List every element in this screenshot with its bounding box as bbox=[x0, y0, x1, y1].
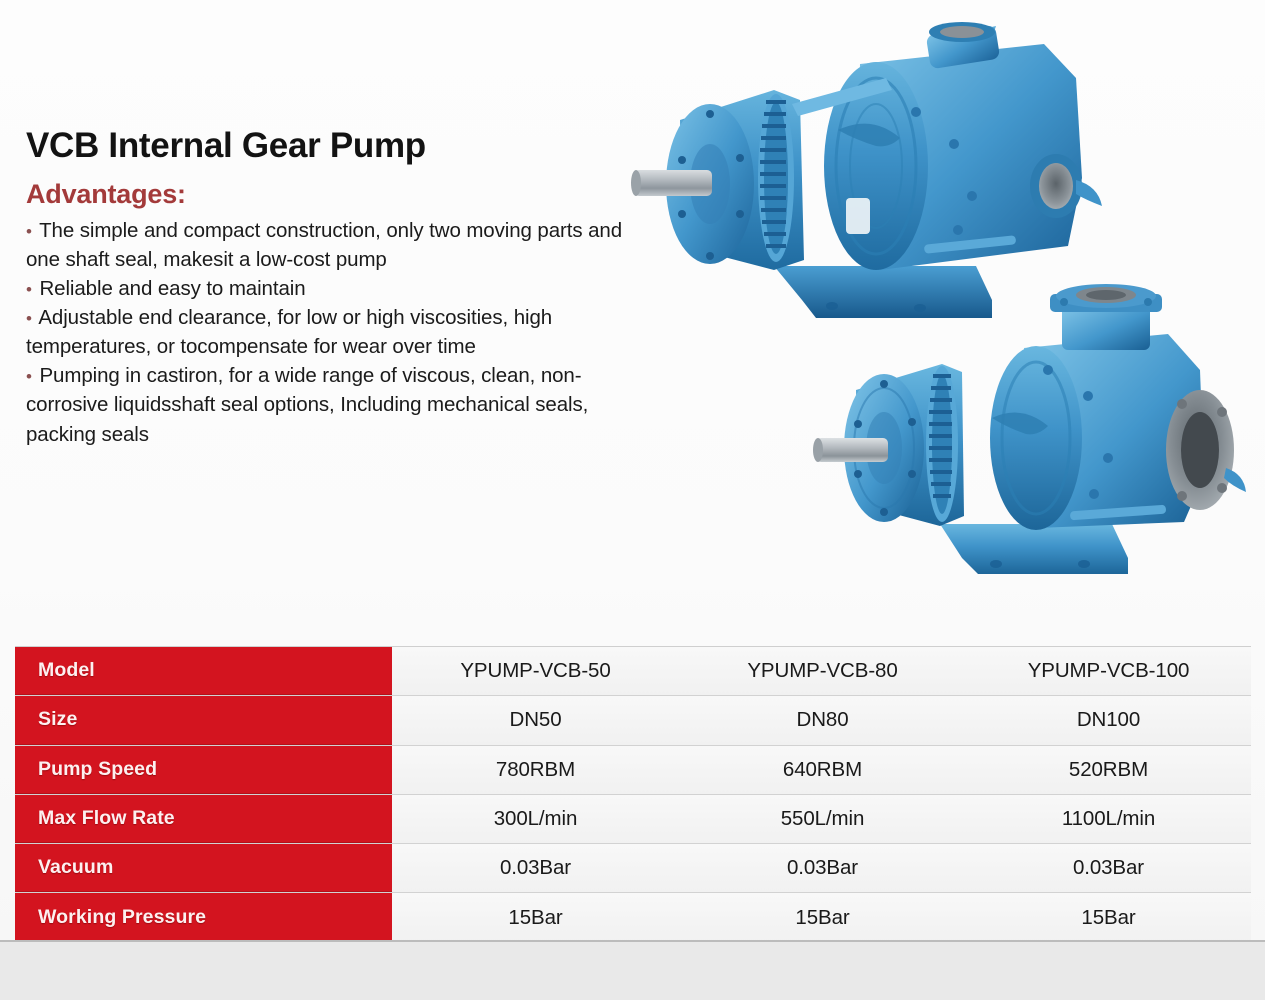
row-label-working-pressure: Working Pressure bbox=[15, 893, 392, 941]
cell-max-flow-rate-col3: 1100L/min bbox=[966, 795, 1251, 843]
pump-baseplate bbox=[940, 524, 1128, 574]
cell-model-col2: YPUMP-VCB-80 bbox=[679, 647, 966, 695]
bullet-icon: • bbox=[26, 309, 34, 328]
cell-model-col1: YPUMP-VCB-50 bbox=[392, 647, 679, 695]
advantage-item-3: • Adjustable end clearance, for low or h… bbox=[26, 303, 646, 361]
pump-drive-shaft bbox=[816, 438, 888, 462]
row-label-max-flow-rate: Max Flow Rate bbox=[15, 795, 392, 843]
cell-working-pressure-col1: 15Bar bbox=[392, 893, 679, 941]
cell-pump-speed-col2: 640RBM bbox=[679, 746, 966, 794]
pump-outlet-bore bbox=[1039, 163, 1073, 209]
page-title: VCB Internal Gear Pump bbox=[26, 128, 646, 165]
footer-band bbox=[0, 940, 1265, 1000]
cell-vacuum-col2: 0.03Bar bbox=[679, 844, 966, 892]
cell-working-pressure-col3: 15Bar bbox=[966, 893, 1251, 941]
cell-max-flow-rate-col2: 550L/min bbox=[679, 795, 966, 843]
row-label-model: Model bbox=[15, 647, 392, 695]
bullet-icon: • bbox=[26, 367, 34, 386]
cell-max-flow-rate-col1: 300L/min bbox=[392, 795, 679, 843]
pump-drive-shaft bbox=[634, 170, 712, 196]
table-row: Size DN50 DN80 DN100 bbox=[15, 696, 1251, 745]
advantage-item-4: • Pumping in castiron, for a wide range … bbox=[26, 361, 646, 448]
specification-table: Model YPUMP-VCB-50 YPUMP-VCB-80 YPUMP-VC… bbox=[15, 646, 1251, 938]
row-label-pump-speed: Pump Speed bbox=[15, 746, 392, 794]
advantage-item-1: • The simple and compact construction, o… bbox=[26, 216, 646, 274]
row-label-size: Size bbox=[15, 696, 392, 744]
advantage-text: The simple and compact construction, onl… bbox=[26, 219, 622, 271]
advantage-item-2: • Reliable and easy to maintain bbox=[26, 274, 646, 303]
cell-vacuum-col3: 0.03Bar bbox=[966, 844, 1251, 892]
row-label-vacuum: Vacuum bbox=[15, 844, 392, 892]
cell-working-pressure-col2: 15Bar bbox=[679, 893, 966, 941]
gear-teeth-ring bbox=[758, 94, 794, 262]
table-row: Pump Speed 780RBM 640RBM 520RBM bbox=[15, 746, 1251, 795]
cell-size-col3: DN100 bbox=[966, 696, 1251, 744]
cell-vacuum-col1: 0.03Bar bbox=[392, 844, 679, 892]
product-spec-sheet: VCB Internal Gear Pump Advantages: • The… bbox=[0, 0, 1265, 1000]
table-row: Max Flow Rate 300L/min 550L/min 1100L/mi… bbox=[15, 795, 1251, 844]
pump-casing-end bbox=[990, 346, 1082, 530]
cell-pump-speed-col1: 780RBM bbox=[392, 746, 679, 794]
advantages-heading: Advantages: bbox=[26, 179, 646, 210]
cell-size-col2: DN80 bbox=[679, 696, 966, 744]
cell-size-col1: DN50 bbox=[392, 696, 679, 744]
gear-teeth-ring bbox=[926, 366, 958, 522]
pump-top-nozzle bbox=[1062, 306, 1150, 350]
product-description-block: VCB Internal Gear Pump Advantages: • The… bbox=[26, 128, 646, 449]
internal-gear-pump-flanged-image bbox=[812, 272, 1264, 594]
bullet-icon: • bbox=[26, 280, 34, 299]
pump-discharge-bore bbox=[1181, 412, 1219, 488]
cell-pump-speed-col3: 520RBM bbox=[966, 746, 1251, 794]
cell-model-col3: YPUMP-VCB-100 bbox=[966, 647, 1251, 695]
table-row: Working Pressure 15Bar 15Bar 15Bar bbox=[15, 893, 1251, 941]
bullet-icon: • bbox=[26, 222, 34, 241]
table-row: Model YPUMP-VCB-50 YPUMP-VCB-80 YPUMP-VC… bbox=[15, 647, 1251, 696]
advantage-text: Pumping in castiron, for a wide range of… bbox=[26, 364, 588, 445]
advantage-text: Adjustable end clearance, for low or hig… bbox=[26, 306, 552, 358]
table-row: Vacuum 0.03Bar 0.03Bar 0.03Bar bbox=[15, 844, 1251, 893]
advantage-text: Reliable and easy to maintain bbox=[39, 277, 305, 300]
